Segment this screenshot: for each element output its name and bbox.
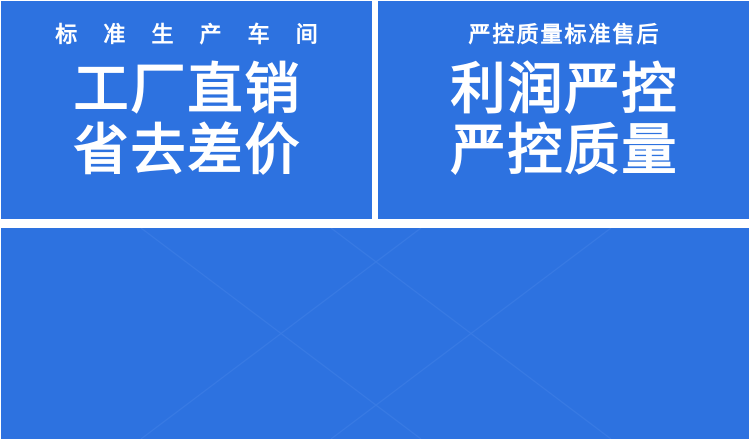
headline-quality-control-line2: 严控质量: [448, 121, 678, 180]
eyebrow-standard-workshop: 标 准 生 产 车 间: [45, 23, 328, 46]
panel-quality-control: 严控质量标准售后 利润严控 严控质量: [378, 1, 749, 219]
diagonal-watermark-lines: [1, 228, 749, 439]
panel-factory-direct: 标 准 生 产 车 间 工厂直销 省去差价: [1, 1, 372, 219]
panel-quality-control-content: 严控质量标准售后 利润严控 严控质量: [378, 1, 749, 219]
panel-details-advantages: 细节与优势 不怕货比，就怕不识货: [1, 228, 749, 439]
promo-banner: 标 准 生 产 车 间 工厂直销 省去差价 严控质量标准售后 利润严控 严控质量…: [0, 0, 750, 440]
headline-factory-direct-line1: 工厂直销: [71, 60, 301, 119]
panel-factory-direct-content: 标 准 生 产 车 间 工厂直销 省去差价: [1, 1, 372, 219]
eyebrow-quality-after-sales: 严控质量标准售后: [466, 23, 660, 46]
headline-factory-direct-line2: 省去差价: [71, 121, 301, 180]
headline-quality-control-line1: 利润严控: [448, 60, 678, 119]
